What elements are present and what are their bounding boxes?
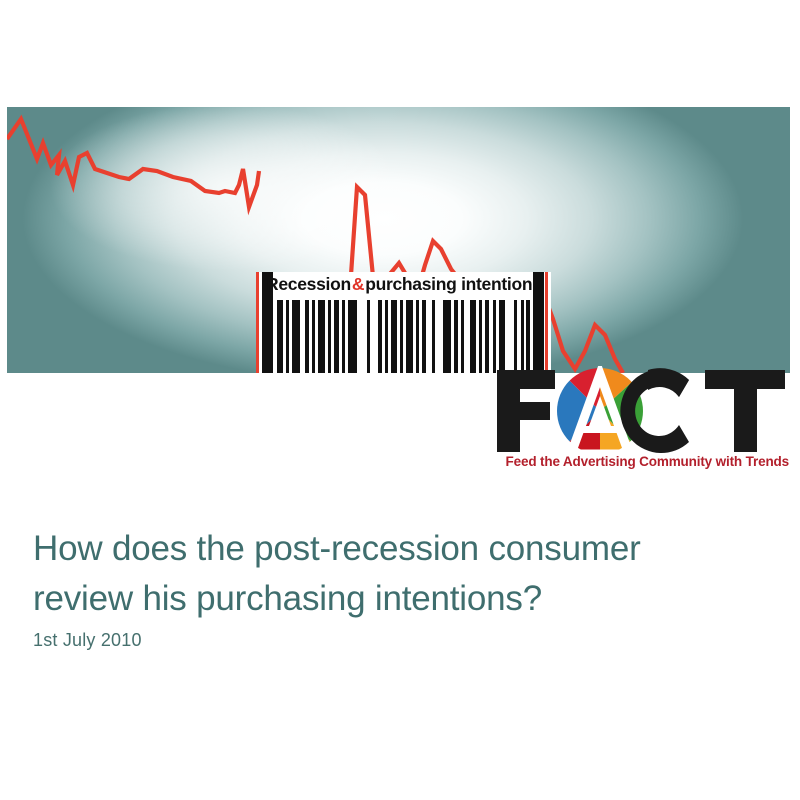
logo-letter-f-icon [497, 370, 555, 452]
hero-banner: Recession & purchasing intention [7, 107, 790, 373]
page-title: How does the post-recession consumer rev… [33, 524, 763, 624]
barcode-label: Recession & purchasing intention [266, 272, 544, 297]
page-date: 1st July 2010 [33, 630, 142, 651]
page-title-line-2: review his purchasing intentions? [33, 574, 763, 624]
barcode-label-suffix: purchasing intention [365, 274, 532, 295]
logo-letter-t-icon [705, 370, 785, 452]
page-title-line-1: How does the post-recession consumer [33, 524, 763, 574]
barcode-label-ampersand: & [351, 274, 365, 295]
logo-tagline: Feed the Advertising Community with Tren… [493, 454, 789, 469]
barcode-label-prefix: Recession [266, 274, 351, 295]
fact-logo: Feed the Advertising Community with Tren… [493, 366, 789, 476]
slide-root: Recession & purchasing intention [0, 0, 800, 800]
fact-wordmark-icon [493, 366, 789, 454]
barcode-graphic: Recession & purchasing intention [252, 272, 557, 373]
